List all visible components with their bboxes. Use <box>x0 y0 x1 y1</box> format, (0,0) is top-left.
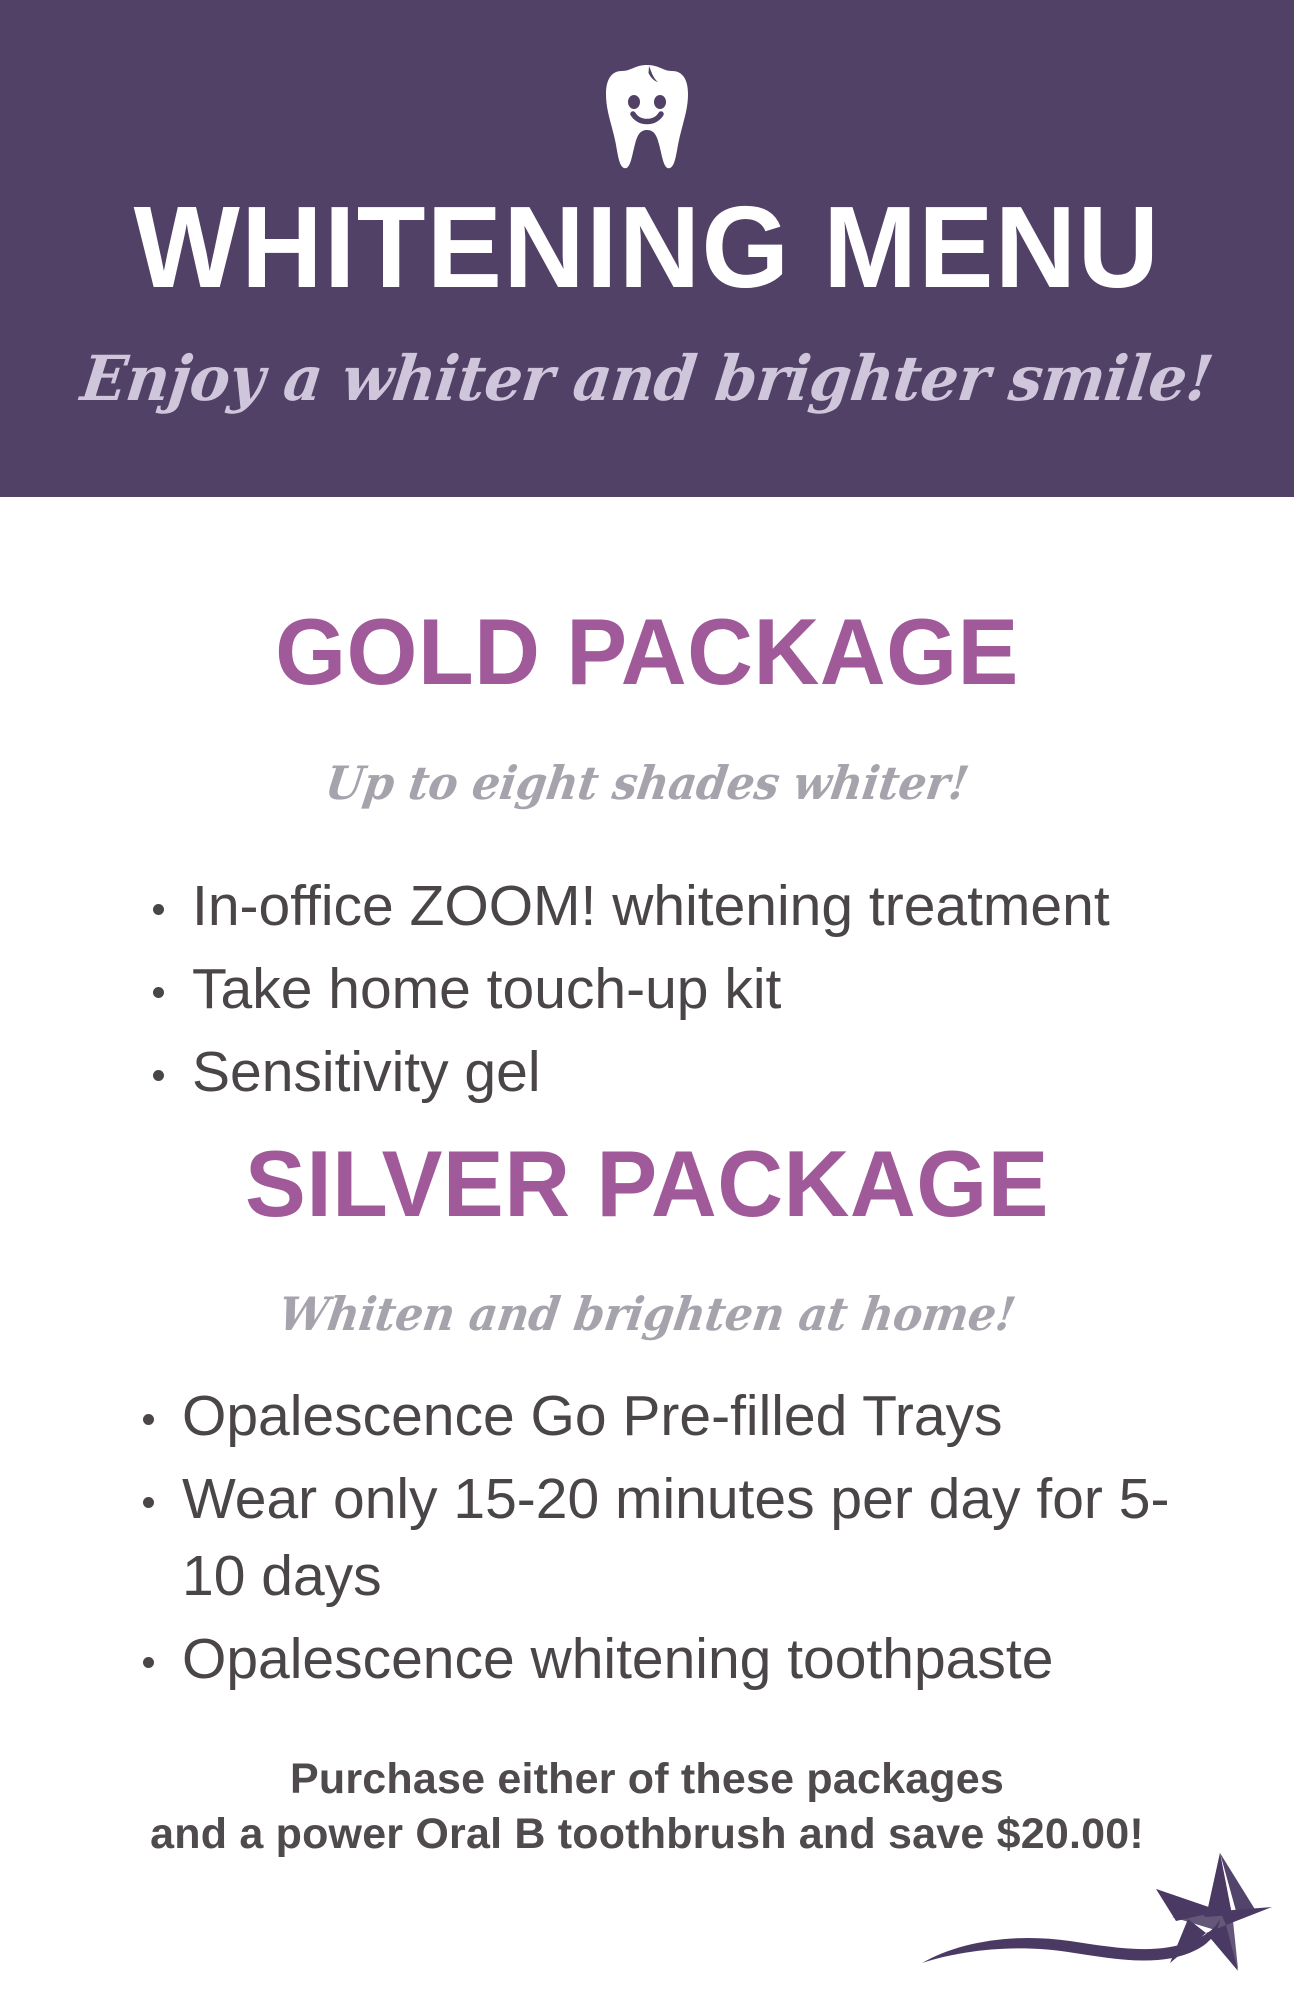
list-item-label: Opalescence whitening toothpaste <box>182 1627 1053 1691</box>
list-item-label: In-office ZOOM! whitening treatment <box>192 874 1110 938</box>
list-item-label: Take home touch-up kit <box>192 957 781 1021</box>
header-subtitle: Enjoy a whiter and brighter smile! <box>22 345 1273 413</box>
list-item: Take home touch-up kit <box>150 951 1160 1028</box>
shooting-star-logo <box>920 1845 1280 1995</box>
smiling-tooth-icon <box>605 62 689 172</box>
list-item: Wear only 15-20 minutes per day for 5-10… <box>140 1461 1170 1615</box>
list-item-label: Opalescence Go Pre-filled Trays <box>182 1384 1003 1448</box>
whitening-menu-poster: WHITENING MENU Enjoy a whiter and bright… <box>0 0 1294 2000</box>
gold-package-list: In-office ZOOM! whitening treatment Take… <box>150 868 1160 1117</box>
silver-package-heading: SILVER PACKAGE <box>19 1137 1274 1231</box>
list-item: Sensitivity gel <box>150 1034 1160 1111</box>
gold-package-tagline: Up to eight shades whiter! <box>29 758 1265 809</box>
list-item: Opalescence Go Pre-filled Trays <box>140 1378 1170 1455</box>
list-item-label: Sensitivity gel <box>192 1040 541 1104</box>
list-item: In-office ZOOM! whitening treatment <box>150 868 1160 945</box>
silver-package-tagline: Whiten and brighten at home! <box>29 1289 1265 1340</box>
promo-line-1: Purchase either of these packages <box>0 1752 1294 1807</box>
gold-package-heading: GOLD PACKAGE <box>19 605 1274 699</box>
page-title: WHITENING MENU <box>19 188 1274 306</box>
silver-package-list: Opalescence Go Pre-filled Trays Wear onl… <box>140 1378 1170 1704</box>
list-item-label: Wear only 15-20 minutes per day for 5-10… <box>182 1467 1169 1608</box>
header-band: WHITENING MENU Enjoy a whiter and bright… <box>0 0 1294 497</box>
list-item: Opalescence whitening toothpaste <box>140 1621 1170 1698</box>
